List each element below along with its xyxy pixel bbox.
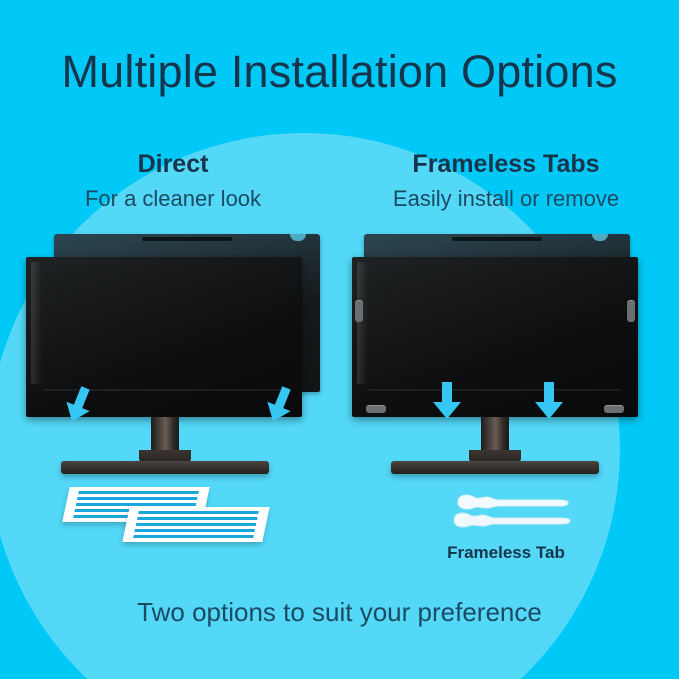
page-title: Multiple Installation Options <box>0 46 679 98</box>
monitor-illustration-direct <box>26 228 326 478</box>
monitor-top-bar-left <box>142 237 232 241</box>
monitor-stand-base-left <box>61 461 269 474</box>
footer-text: Two options to suit your preference <box>0 597 679 628</box>
frameless-tab-clip-left <box>355 300 363 322</box>
strip-line <box>77 497 198 500</box>
panel-sheen-right <box>357 262 368 384</box>
column-frameless-title: Frameless Tabs <box>341 152 671 177</box>
adhesive-sheet-front <box>122 507 269 542</box>
strip-line <box>134 529 255 532</box>
frameless-tab-strip-2 <box>446 512 572 533</box>
install-arrow-right-2 <box>532 380 566 422</box>
strip-line <box>76 503 197 506</box>
monitor-top-bar-right <box>452 237 542 241</box>
panel-sheen-left <box>31 262 42 384</box>
strip-line <box>78 491 199 494</box>
column-frameless-tabs: Frameless Tabs Easily install or remove <box>341 152 671 210</box>
monitor-stand-base-right <box>391 461 599 474</box>
strip-line <box>138 511 259 514</box>
frameless-tab-caption: Frameless Tab <box>341 543 671 563</box>
column-frameless-subtitle: Easily install or remove <box>341 188 671 210</box>
column-direct-subtitle: For a cleaner look <box>8 188 338 210</box>
frameless-tab-clip-bottom-right <box>604 405 624 413</box>
install-arrow-left-2 <box>258 384 298 426</box>
install-arrow-right-1 <box>430 380 464 422</box>
monitor-notch-left <box>290 234 306 241</box>
install-arrow-left-1 <box>57 384 97 426</box>
strip-line <box>133 535 254 538</box>
infographic-canvas: Multiple Installation Options Direct For… <box>0 0 679 679</box>
frameless-tab-clip-bottom-left <box>366 405 386 413</box>
column-direct-title: Direct <box>8 152 338 177</box>
adhesive-strip-sheets <box>66 487 281 545</box>
strip-line <box>136 523 257 526</box>
privacy-filter-panel-right <box>352 257 638 417</box>
monitor-notch-right <box>592 234 608 241</box>
strip-line <box>137 517 258 520</box>
panel-baseline-right <box>369 389 621 391</box>
adhesive-sheet-front-lines <box>133 511 259 538</box>
frameless-tab-clip-right <box>627 300 635 322</box>
monitor-illustration-frameless <box>352 228 652 478</box>
column-direct: Direct For a cleaner look <box>8 152 338 210</box>
frameless-tab-accessories <box>446 494 572 534</box>
